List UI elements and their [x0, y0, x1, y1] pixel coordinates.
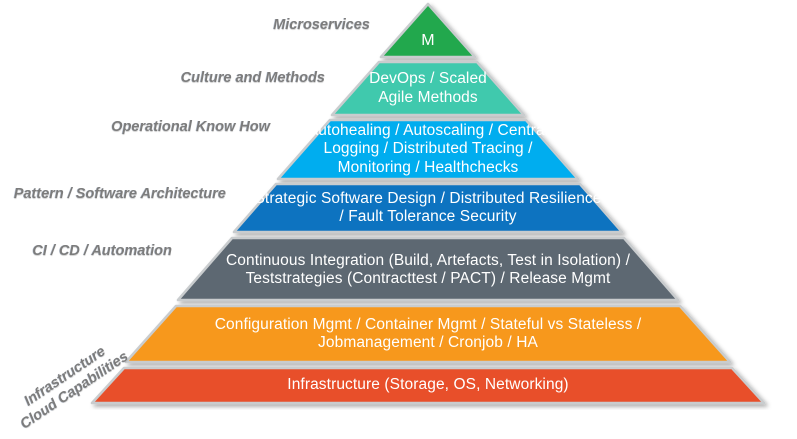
pyramid-tier-ci-cd-automation — [178, 238, 678, 300]
pyramid-diagram: M DevOps / Scaled Agile Methods Autoheal… — [0, 0, 797, 410]
side-label-microservices: Microservices — [140, 17, 370, 34]
pyramid-tier-infrastructure — [92, 368, 764, 403]
side-label-pattern-software-architecture: Pattern / Software Architecture — [0, 186, 226, 203]
pyramid-tier-operational-know-how — [278, 120, 578, 179]
pyramid-tier-infrastructure-cloud-capabilities — [126, 306, 730, 362]
side-label-culture-and-methods: Culture and Methods — [95, 70, 325, 87]
side-label-operational-know-how: Operational Know How — [40, 119, 270, 136]
pyramid-tier-microservices — [381, 4, 475, 57]
side-label-ci-cd-automation: CI / CD / Automation — [0, 243, 172, 260]
pyramid-tier-pattern-software-architecture — [234, 184, 622, 232]
pyramid-tier-culture-and-methods — [332, 62, 524, 115]
